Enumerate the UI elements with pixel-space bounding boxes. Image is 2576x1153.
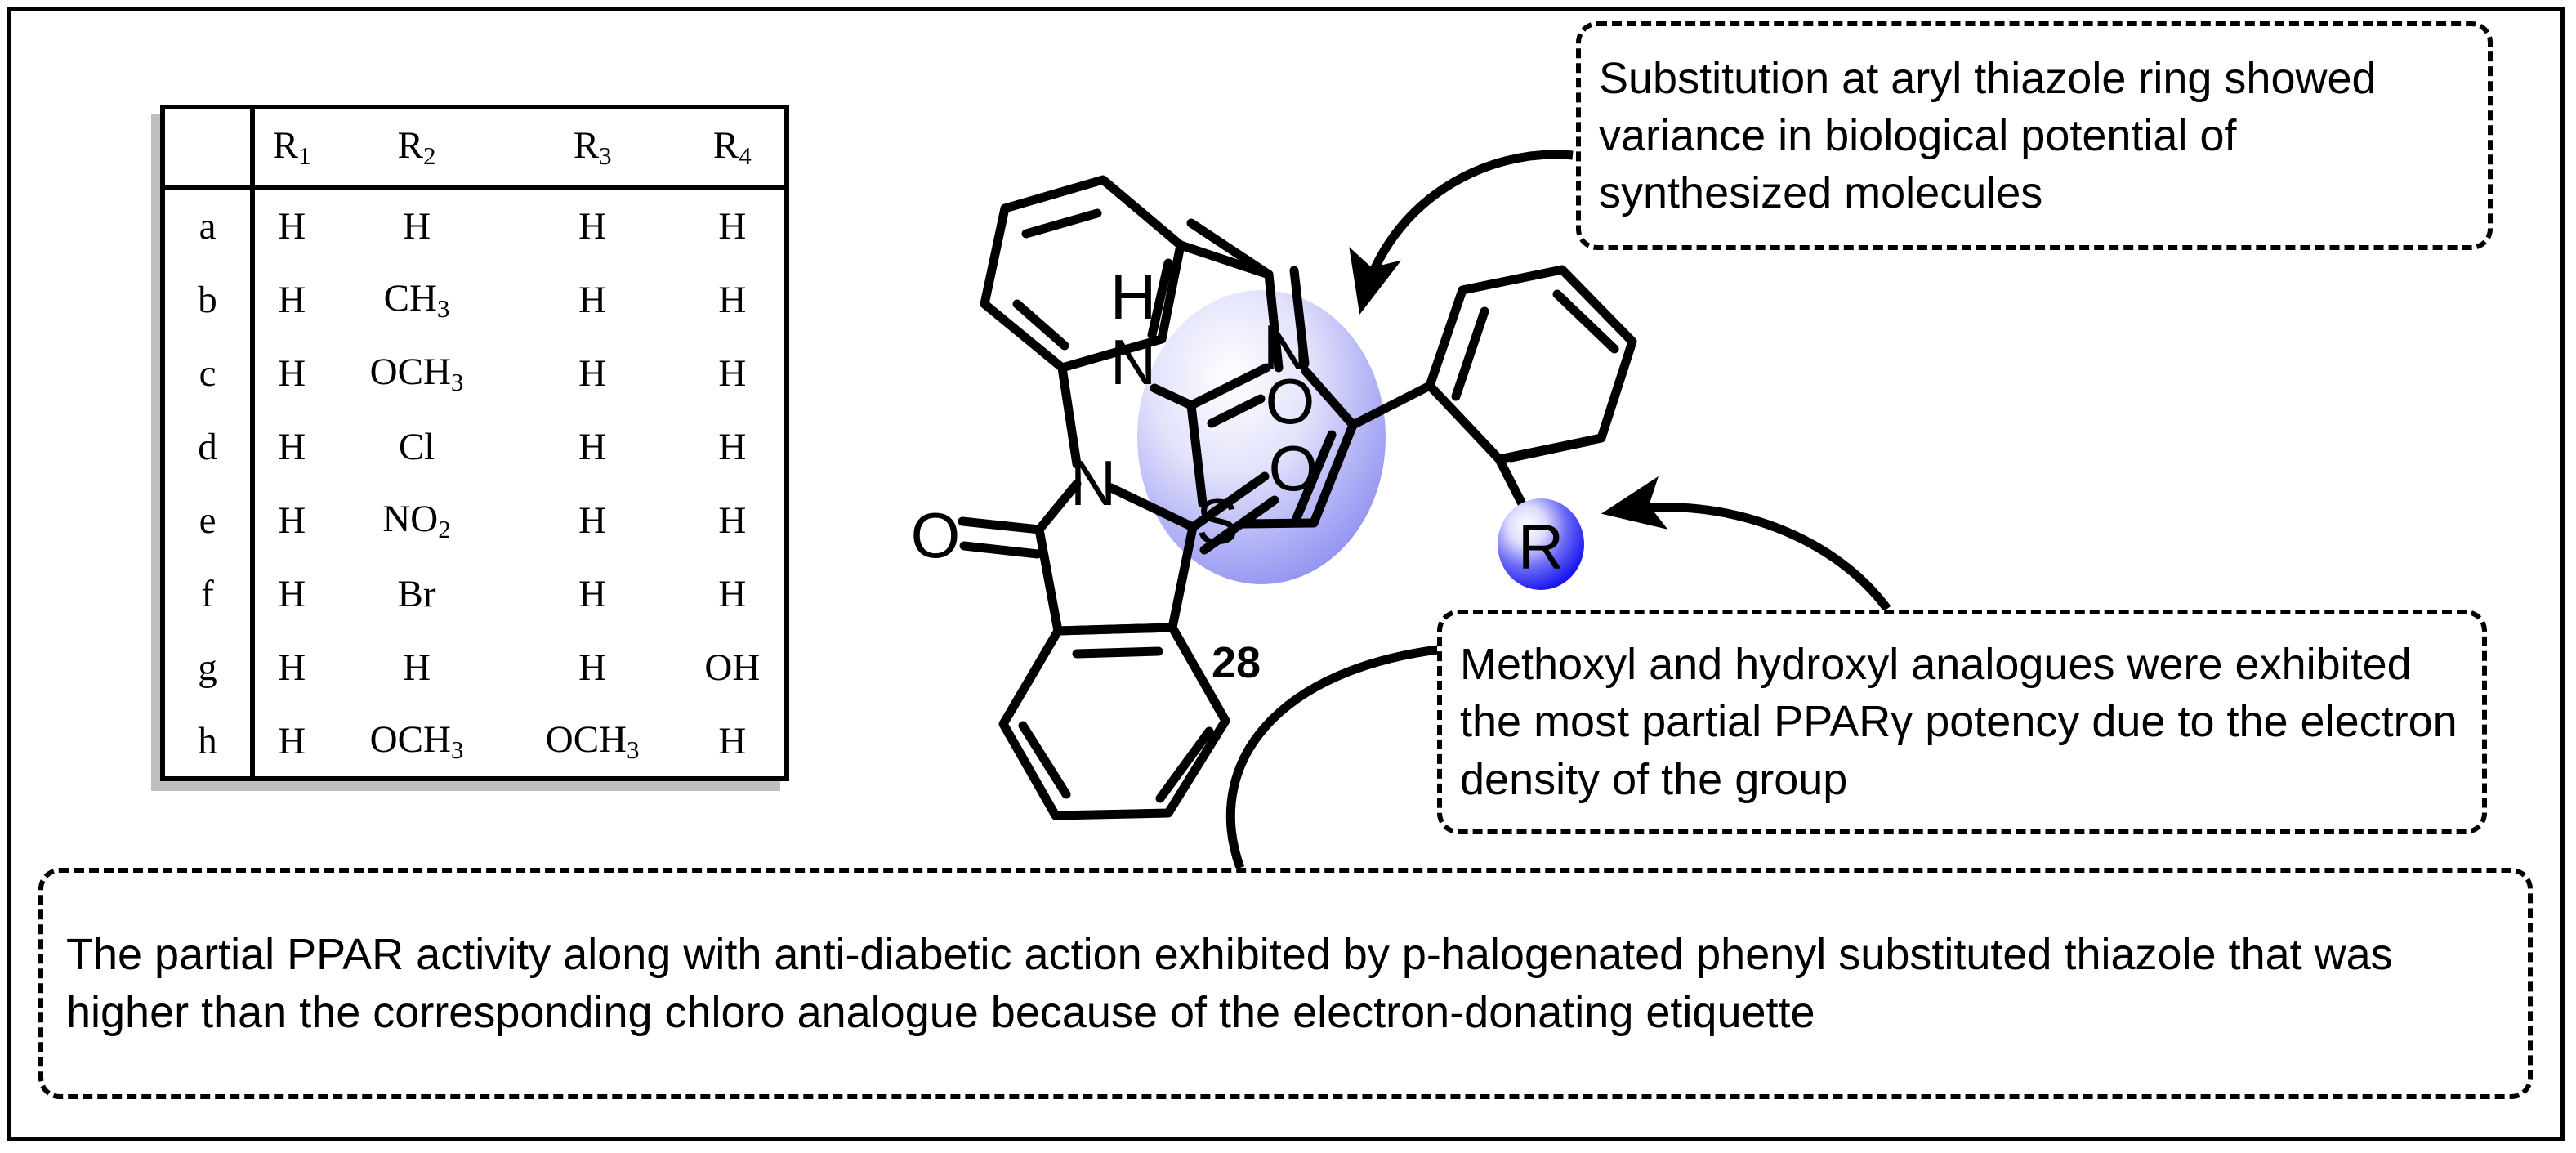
table-cell-r2: Br — [328, 557, 504, 631]
table-row: eHNO2HH — [165, 484, 784, 557]
compound-number-label: 28 — [1212, 637, 1261, 688]
table-cell-r1: H — [252, 187, 328, 263]
amide-h-label: H — [1110, 261, 1156, 333]
aryl-double-2 — [1557, 294, 1614, 349]
aryl-double-3 — [1511, 441, 1589, 458]
table-cell-r3: H — [505, 263, 681, 337]
imide-co-left-b — [964, 546, 1038, 554]
table-row: aHHHH — [165, 187, 784, 263]
table-cell-r4: H — [681, 187, 784, 263]
column-header-r3-subscript: 3 — [599, 141, 612, 170]
table-row: cHOCH3HH — [165, 337, 784, 410]
table-cell-r4: OH — [681, 631, 784, 704]
table-row-label: f — [165, 557, 252, 631]
table-cell-r3: H — [505, 337, 681, 410]
table-cell-r3: H — [505, 410, 681, 484]
thiazole-c5-to-s — [1242, 523, 1314, 524]
column-header-r1-subscript: 1 — [298, 141, 311, 170]
column-header-r1: R1 — [252, 109, 328, 187]
benzo-double-3 — [1023, 726, 1066, 794]
table-row-label: e — [165, 484, 252, 557]
table-cell-r3: H — [505, 484, 681, 557]
table-header-row: R1 R2 R3 R4 — [165, 109, 784, 187]
table-row-label: b — [165, 263, 252, 337]
table-cell-r2: H — [328, 187, 504, 263]
table-row: dHClHH — [165, 410, 784, 484]
table-row-label: d — [165, 410, 252, 484]
substituent-table-grid: R1 R2 R3 R4 aHHHHbHCH3HHcHOCH3HHdHClHHeH… — [165, 109, 784, 778]
table-cell-r4: H — [681, 704, 784, 778]
benzene-left-double-1 — [1026, 213, 1097, 234]
callout-bottom-text: The partial PPAR activity along with ant… — [43, 926, 2528, 1040]
table-row: hHOCH3OCH3H — [165, 704, 784, 778]
column-header-r2: R2 — [328, 109, 504, 187]
thiazole-s-label: S — [1196, 485, 1239, 557]
table-cell-r2: Cl — [328, 410, 504, 484]
callout-top-right-text: Substitution at aryl thiazole ring showe… — [1581, 50, 2488, 222]
imide-co-left-a — [962, 521, 1039, 530]
table-cell-r1: H — [252, 704, 328, 778]
table-cell-r4: H — [681, 410, 784, 484]
table-row-label: c — [165, 337, 252, 410]
table-row-label: h — [165, 704, 252, 778]
table-body: aHHHHbHCH3HHcHOCH3HHdHClHHeHNO2HHfHBrHHg… — [165, 187, 784, 778]
callout-middle-right-text: Methoxyl and hydroxyl analogues were exh… — [1442, 636, 2482, 808]
table-row-label: g — [165, 631, 252, 704]
benzene-ring-aryl — [1430, 270, 1632, 459]
column-header-r3: R3 — [505, 109, 681, 187]
table-cell-r3: H — [505, 187, 681, 263]
substituent-table: R1 R2 R3 R4 aHHHHbHCH3HHcHOCH3HHdHClHHeH… — [160, 105, 789, 781]
figure-canvas: R1 R2 R3 R4 aHHHHbHCH3HHcHOCH3HHdHClHHeH… — [0, 0, 2576, 1153]
table-cell-r2: CH3 — [328, 263, 504, 337]
table-cell-r2: NO2 — [328, 484, 504, 557]
imide-c4-to-c5 — [1039, 530, 1058, 631]
table-cell-r3: OCH3 — [505, 704, 681, 778]
table-row: fHBrHH — [165, 557, 784, 631]
thiazole-n-label: N — [1263, 311, 1309, 383]
table-cell-r1: H — [252, 484, 328, 557]
table-cell-r2: OCH3 — [328, 337, 504, 410]
table-row-label: a — [165, 187, 252, 263]
table-cell-r1: H — [252, 557, 328, 631]
table-cell-r3: H — [505, 631, 681, 704]
callout-bottom: The partial PPAR activity along with ant… — [38, 868, 2533, 1099]
table-cell-r2: H — [328, 631, 504, 704]
table-cell-r1: H — [252, 263, 328, 337]
table-cell-r4: H — [681, 484, 784, 557]
table-cell-r4: H — [681, 263, 784, 337]
imide-o-right-label: O — [1269, 432, 1319, 504]
table-corner-header — [165, 109, 252, 187]
amide-n-label: N — [1110, 326, 1156, 398]
callout-top-right: Substitution at aryl thiazole ring showe… — [1576, 21, 2493, 250]
table-cell-r4: H — [681, 557, 784, 631]
callout-middle-right: Methoxyl and hydroxyl analogues were exh… — [1437, 610, 2487, 834]
column-header-r4-subscript: 4 — [739, 141, 752, 170]
table-cell-r1: H — [252, 410, 328, 484]
imide-o-left-label: O — [911, 499, 961, 571]
column-header-r2-subscript: 2 — [423, 141, 436, 170]
benzo-double-1 — [1077, 651, 1159, 654]
table-row: gHHHOH — [165, 631, 784, 704]
table-cell-r4: H — [681, 337, 784, 410]
table-cell-r1: H — [252, 337, 328, 410]
imide-n-label: N — [1070, 447, 1116, 519]
column-header-r4: R4 — [681, 109, 784, 187]
table-cell-r1: H — [252, 631, 328, 704]
table-header: R1 R2 R3 R4 — [165, 109, 784, 187]
table-row: bHCH3HH — [165, 263, 784, 337]
aryl-double-1 — [1456, 311, 1484, 396]
r-group-label: R — [1518, 511, 1564, 583]
table-cell-r3: H — [505, 557, 681, 631]
table-cell-r2: OCH3 — [328, 704, 504, 778]
